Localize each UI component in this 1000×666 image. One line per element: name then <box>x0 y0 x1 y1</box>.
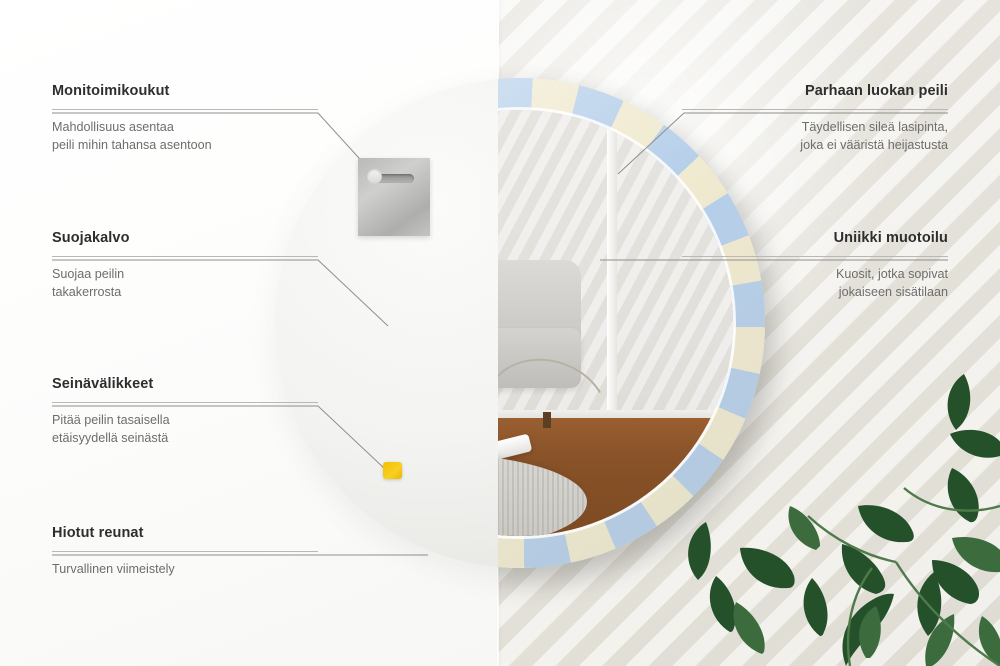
callout-rule <box>52 109 318 110</box>
callout-description-line: peili mihin tahansa asentoon <box>52 137 318 155</box>
callout-protective-film: Suojakalvo Suojaa peilin takakerrosta <box>52 229 318 301</box>
callout-description-line: takakerrosta <box>52 284 318 302</box>
callout-mounting-hooks: Monitoimikoukut Mahdollisuus asentaa pei… <box>52 82 318 154</box>
callout-description-line: Kuosit, jotka sopivat <box>682 266 948 284</box>
callout-description: Kuosit, jotka sopivat jokaiseen sisätila… <box>682 266 948 301</box>
callout-rule <box>682 109 948 110</box>
callout-description: Täydellisen sileä lasipinta, joka ei vää… <box>682 119 948 154</box>
reflected-wall-edge <box>607 110 617 450</box>
callout-polished-edges: Hiotut reunat Turvallinen viimeistely <box>52 524 318 579</box>
callout-description-line: etäisyydellä seinästä <box>52 430 318 448</box>
callout-rule <box>52 551 318 552</box>
mounting-hook-plate <box>358 158 430 236</box>
callout-description: Pitää peilin tasaisella etäisyydellä sei… <box>52 412 318 447</box>
callout-unique-design: Uniikki muotoilu Kuosit, jotka sopivat j… <box>682 229 948 301</box>
callout-title: Hiotut reunat <box>52 524 318 542</box>
callout-description-line: Pitää peilin tasaisella <box>52 412 318 430</box>
reflected-room <box>498 110 733 536</box>
callout-rule <box>52 256 318 257</box>
callout-description: Mahdollisuus asentaa peili mihin tahansa… <box>52 119 318 154</box>
infographic-canvas: Monitoimikoukut Mahdollisuus asentaa pei… <box>0 0 1000 666</box>
callout-title: Parhaan luokan peili <box>682 82 948 100</box>
callout-title: Uniikki muotoilu <box>682 229 948 247</box>
callout-description: Turvallinen viimeistely <box>52 561 318 579</box>
callout-description-line: Mahdollisuus asentaa <box>52 119 318 137</box>
callout-rule <box>682 256 948 257</box>
callout-description-line: Suojaa peilin <box>52 266 318 284</box>
callout-description-line: jokaiseen sisätilaan <box>682 284 948 302</box>
callout-description: Suojaa peilin takakerrosta <box>52 266 318 301</box>
callout-best-in-class-mirror: Parhaan luokan peili Täydellisen sileä l… <box>682 82 948 154</box>
callout-title: Seinävälikkeet <box>52 375 318 393</box>
callout-title: Suojakalvo <box>52 229 318 247</box>
callout-wall-spacers: Seinävälikkeet Pitää peilin tasaisella e… <box>52 375 318 447</box>
callout-description-line: joka ei vääristä heijastusta <box>682 137 948 155</box>
callout-description-line: Täydellisen sileä lasipinta, <box>682 119 948 137</box>
mirror-glass <box>498 110 733 536</box>
hook-keyhole-slot <box>370 174 414 183</box>
callout-description-line: Turvallinen viimeistely <box>52 561 318 579</box>
callout-rule <box>52 402 318 403</box>
callout-title: Monitoimikoukut <box>52 82 318 100</box>
wall-spacer-block <box>383 462 402 479</box>
